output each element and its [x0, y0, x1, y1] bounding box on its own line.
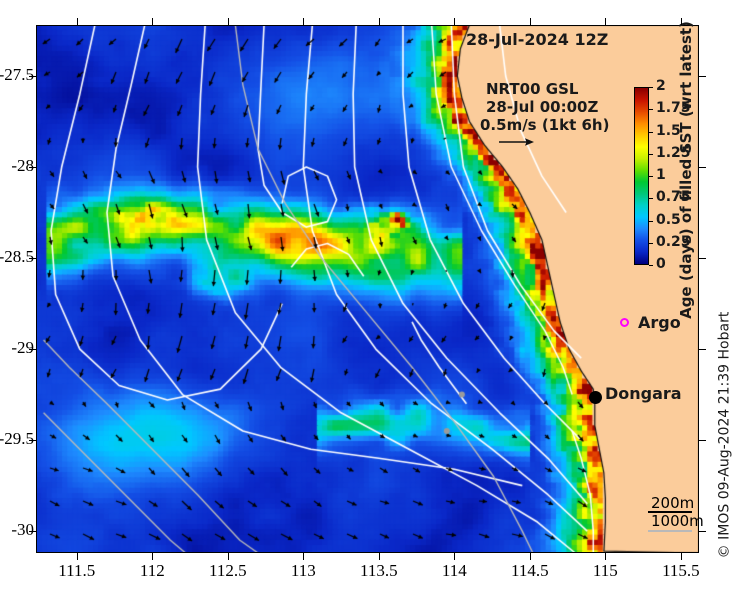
- colorbar-tick: [649, 87, 653, 88]
- y-tick-right: [699, 76, 706, 77]
- y-tick-label: -27.5: [0, 65, 34, 85]
- colorbar-tick: [649, 243, 653, 244]
- x-tick: [530, 553, 531, 560]
- x-tick: [228, 553, 229, 560]
- x-tick-top: [530, 18, 531, 25]
- colorbar-tick-label: 1: [656, 167, 666, 183]
- y-tick-right: [699, 349, 706, 350]
- y-tick-label: -29: [0, 338, 34, 358]
- x-tick: [454, 553, 455, 560]
- y-tick-label: -30: [0, 520, 34, 540]
- x-tick: [605, 553, 606, 560]
- y-tick-right: [699, 258, 706, 259]
- y-tick-right: [699, 531, 706, 532]
- y-tick-right: [699, 440, 706, 441]
- open-circle-icon: [620, 318, 629, 327]
- date-stamp: 28-Jul-2024 12Z: [466, 30, 608, 49]
- x-tick-top: [681, 18, 682, 25]
- colorbar-title-text: Age (days) of filled SST (wrt latest): [677, 21, 695, 319]
- model-name-label: NRT00 GSL: [486, 80, 578, 98]
- x-tick: [379, 553, 380, 560]
- x-tick-top: [605, 18, 606, 25]
- colorbar-tick: [649, 221, 653, 222]
- colorbar-gradient: [634, 87, 649, 265]
- bathymetry-1000m-line: [648, 530, 692, 532]
- colorbar-tick: [649, 132, 653, 133]
- x-tick: [77, 553, 78, 560]
- x-tick-top: [77, 18, 78, 25]
- x-tick-top: [454, 18, 455, 25]
- copyright-credit: © IMOS 09-Aug-2024 21:39 Hobart: [712, 310, 736, 560]
- colorbar-tick: [649, 176, 653, 177]
- argo-legend-label: Argo: [638, 313, 681, 332]
- x-tick: [681, 553, 682, 560]
- y-tick-right: [699, 167, 706, 168]
- y-tick-label: -29.5: [0, 429, 34, 449]
- x-tick-label: 115.5: [636, 561, 726, 581]
- x-tick-top: [228, 18, 229, 25]
- x-tick-top: [152, 18, 153, 25]
- x-tick: [303, 553, 304, 560]
- x-tick-top: [303, 18, 304, 25]
- bathymetry-1000m-label: 1000m: [651, 512, 704, 530]
- copyright-text: © IMOS 09-Aug-2024 21:39 Hobart: [716, 312, 732, 559]
- vector-scale-label: 0.5m/s (1kt 6h): [480, 116, 609, 134]
- right-arrow-icon: [498, 136, 534, 148]
- colorbar-tick: [649, 198, 653, 199]
- colorbar-tick-label: 2: [656, 78, 666, 94]
- x-tick: [152, 553, 153, 560]
- map-overlay-contours-vectors: [36, 25, 699, 553]
- dongara-city-label: Dongara: [605, 384, 682, 403]
- colorbar-tick: [649, 154, 653, 155]
- y-tick-label: -28.5: [0, 247, 34, 267]
- colorbar-tick: [649, 265, 653, 266]
- colorbar-tick: [649, 109, 653, 110]
- filled-circle-icon: [589, 391, 602, 404]
- colorbar-title: Age (days) of filled SST (wrt latest): [673, 25, 699, 315]
- x-tick-top: [379, 18, 380, 25]
- bathymetry-200m-label: 200m: [651, 494, 694, 512]
- map-plot-area[interactable]: [36, 25, 699, 553]
- colorbar-tick-label: 0: [656, 256, 666, 272]
- model-time-label: 28-Jul 00:00Z: [486, 98, 598, 116]
- figure-canvas: 28-Jul-2024 12Z NRT00 GSL 28-Jul 00:00Z …: [0, 0, 740, 592]
- y-tick-label: -28: [0, 156, 34, 176]
